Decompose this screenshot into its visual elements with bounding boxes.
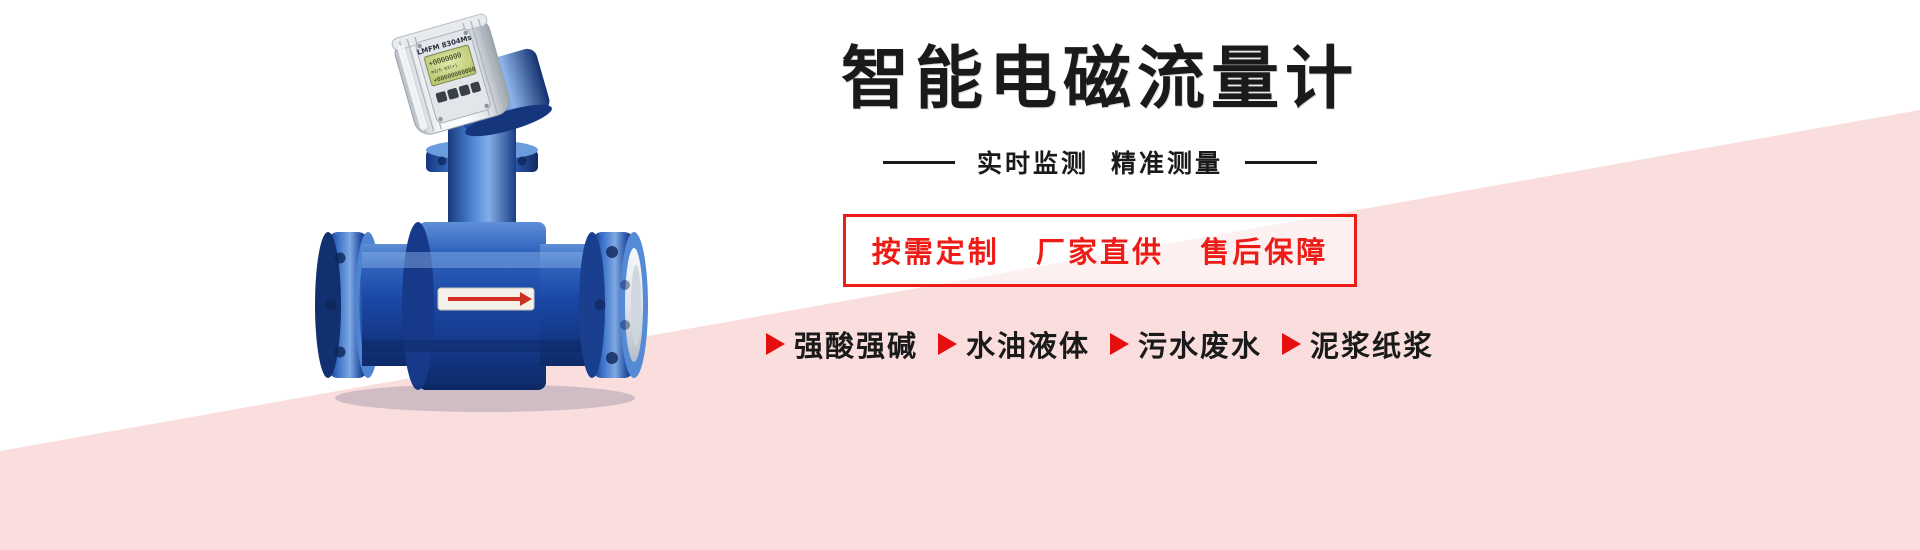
feature-label-2: 污水废水 bbox=[1138, 323, 1262, 365]
page-title: 智能电磁流量计 bbox=[841, 46, 1359, 114]
badge-item-after-sales: 售后保障 bbox=[1200, 235, 1328, 269]
arrow-right-icon bbox=[1282, 333, 1301, 355]
application-feature-list: 强酸强碱 水油液体 污水废水 泥浆纸浆 bbox=[766, 323, 1434, 365]
arrow-right-icon bbox=[938, 333, 957, 355]
subtitle-row: 实时监测 精准测量 bbox=[883, 144, 1317, 180]
subtitle-rule-left bbox=[883, 161, 955, 164]
feature-item-0: 强酸强碱 bbox=[766, 323, 918, 365]
flow-direction-label bbox=[438, 288, 534, 310]
subtitle-rule-right bbox=[1245, 161, 1317, 164]
arrow-right-icon bbox=[766, 333, 785, 355]
feature-label-3: 泥浆纸浆 bbox=[1310, 323, 1434, 365]
subtitle-right: 精准测量 bbox=[1111, 144, 1223, 180]
arrow-right-icon bbox=[1110, 333, 1129, 355]
badge-item-custom: 按需定制 bbox=[872, 235, 1000, 269]
feature-item-3: 泥浆纸浆 bbox=[1282, 323, 1434, 365]
selling-points-badge: 按需定制 厂家直供 售后保障 bbox=[843, 214, 1357, 287]
transmitter-head: LMFM 8304Ms +0000000 m3/h m3(+) +0000000… bbox=[391, 2, 555, 155]
feature-label-1: 水油液体 bbox=[966, 323, 1090, 365]
subtitle-left: 实时监测 bbox=[977, 144, 1089, 180]
product-banner: LMFM 8304Ms +0000000 m3/h m3(+) +0000000… bbox=[0, 0, 1920, 550]
feature-label-0: 强酸强碱 bbox=[794, 323, 918, 365]
badge-item-factory-direct: 厂家直供 bbox=[1036, 235, 1164, 269]
feature-item-1: 水油液体 bbox=[938, 323, 1090, 365]
feature-item-2: 污水废水 bbox=[1110, 323, 1262, 365]
banner-text-column: 智能电磁流量计 实时监测 精准测量 按需定制 厂家直供 售后保障 强酸强碱 水油… bbox=[600, 0, 1600, 550]
